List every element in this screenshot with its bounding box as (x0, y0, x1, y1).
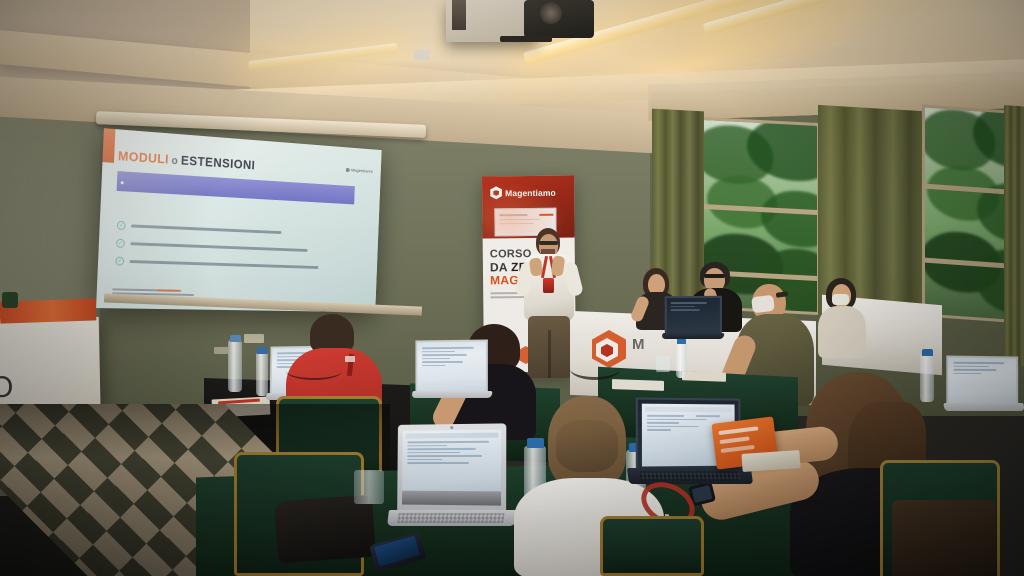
hexagon-logo-icon (490, 186, 502, 199)
drinking-glass (656, 356, 670, 372)
slide-bullet: ✓ Tutti i fornitori sul Marketplace sono… (117, 221, 282, 237)
slide-bullet: ✓ Tutte le estensioni pubblicate sul Mar… (116, 239, 308, 255)
presenter-hand-left (529, 257, 543, 276)
curtain-panel (1004, 105, 1024, 367)
check-circle-icon: ✓ (116, 239, 125, 248)
wall-socket (214, 347, 228, 354)
slide-title: MODULIoESTENSIONI (118, 147, 256, 174)
slide-title-part1: MODULI (118, 148, 169, 166)
bag (274, 495, 376, 564)
banquet-chair (600, 516, 704, 576)
face-mask-icon (751, 295, 775, 314)
keyboard[interactable] (639, 471, 740, 481)
bottle-cap (527, 438, 544, 448)
slide-title-part3: ESTENSIONI (181, 153, 256, 173)
water-bottle (676, 342, 687, 378)
attendee-hair-bun (556, 420, 618, 472)
projector-mount-joint (540, 2, 562, 24)
notepad (682, 371, 726, 382)
slide-accent-bar (102, 128, 115, 163)
projector-lens-housing (500, 36, 552, 42)
laptop-base (943, 403, 1024, 411)
rollup-banner-header: Magentiamo (482, 176, 575, 239)
laptop-base (661, 333, 724, 339)
keyboard[interactable] (397, 513, 504, 523)
slide-title-part2: o (171, 155, 178, 167)
attendee-body (818, 306, 866, 358)
drinking-glass (354, 470, 384, 504)
laptop-back-row[interactable] (415, 340, 487, 393)
glasses-icon (539, 241, 558, 245)
left-prop (2, 292, 18, 308)
projector-vent (452, 0, 466, 30)
floor-cable (570, 358, 620, 380)
trouser-seam (548, 330, 551, 378)
webcam-icon (450, 426, 453, 429)
attendee-head-partial (892, 500, 996, 576)
check-circle-icon: ✓ (115, 257, 124, 266)
info-icon (121, 181, 124, 184)
laptop-base (411, 391, 492, 398)
hexagon-logo-icon (346, 168, 350, 173)
water-bottle (228, 340, 242, 392)
rollup-brand-label: Magentiamo (505, 187, 556, 198)
photo-scene: MODULIoESTENSIONI Magentiamo Moduli ed e… (0, 0, 1024, 576)
check-circle-icon: ✓ (117, 221, 126, 230)
slide-callout-box: Moduli ed estensioni sono componenti sof… (117, 171, 355, 204)
laptop-back-row[interactable] (665, 296, 722, 334)
water-bottle (256, 352, 268, 396)
face-mask-icon (832, 294, 849, 305)
bottle-cap (230, 335, 241, 342)
bottle-cap (257, 347, 267, 354)
slide-bullet: ✓ Le estensioni NON possono essere caric… (115, 257, 318, 272)
rollup-brand: Magentiamo (490, 186, 556, 200)
water-bottle (920, 354, 934, 402)
presenter-badge (543, 278, 554, 293)
glasses-icon (704, 274, 725, 278)
projection-screen: MODULIoESTENSIONI Magentiamo Moduli ed e… (96, 128, 382, 312)
table-banner-label: M (632, 336, 645, 353)
left-sign-text: O (0, 371, 15, 406)
floor-cable (286, 362, 342, 380)
ceiling-sensor-icon (414, 50, 430, 60)
macbook-air[interactable] (397, 423, 506, 512)
laptop-back-row[interactable] (946, 355, 1018, 404)
slide-brand-mark: Magentiamo (346, 167, 373, 174)
wall-socket (244, 334, 264, 343)
notepad (612, 379, 664, 391)
badge-clip (345, 356, 355, 362)
bottle-cap (922, 349, 933, 356)
